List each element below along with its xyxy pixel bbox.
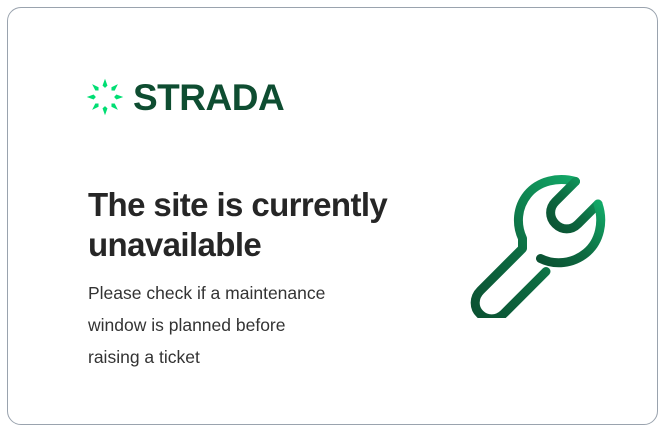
strada-asterisk-icon	[86, 78, 124, 116]
wrench-icon	[463, 163, 623, 318]
page-description: Please check if a maintenance window is …	[88, 277, 398, 373]
description-line: raising a ticket	[88, 341, 398, 373]
description-line: window is planned before	[88, 309, 398, 341]
status-card: STRADA The site is currently unavailable…	[7, 7, 658, 425]
error-page-screen: STRADA The site is currently unavailable…	[0, 0, 666, 436]
page-title: The site is currently unavailable	[88, 185, 418, 266]
brand-logo: STRADA	[86, 78, 284, 116]
description-line: Please check if a maintenance	[88, 277, 398, 309]
brand-wordmark: STRADA	[133, 79, 284, 116]
